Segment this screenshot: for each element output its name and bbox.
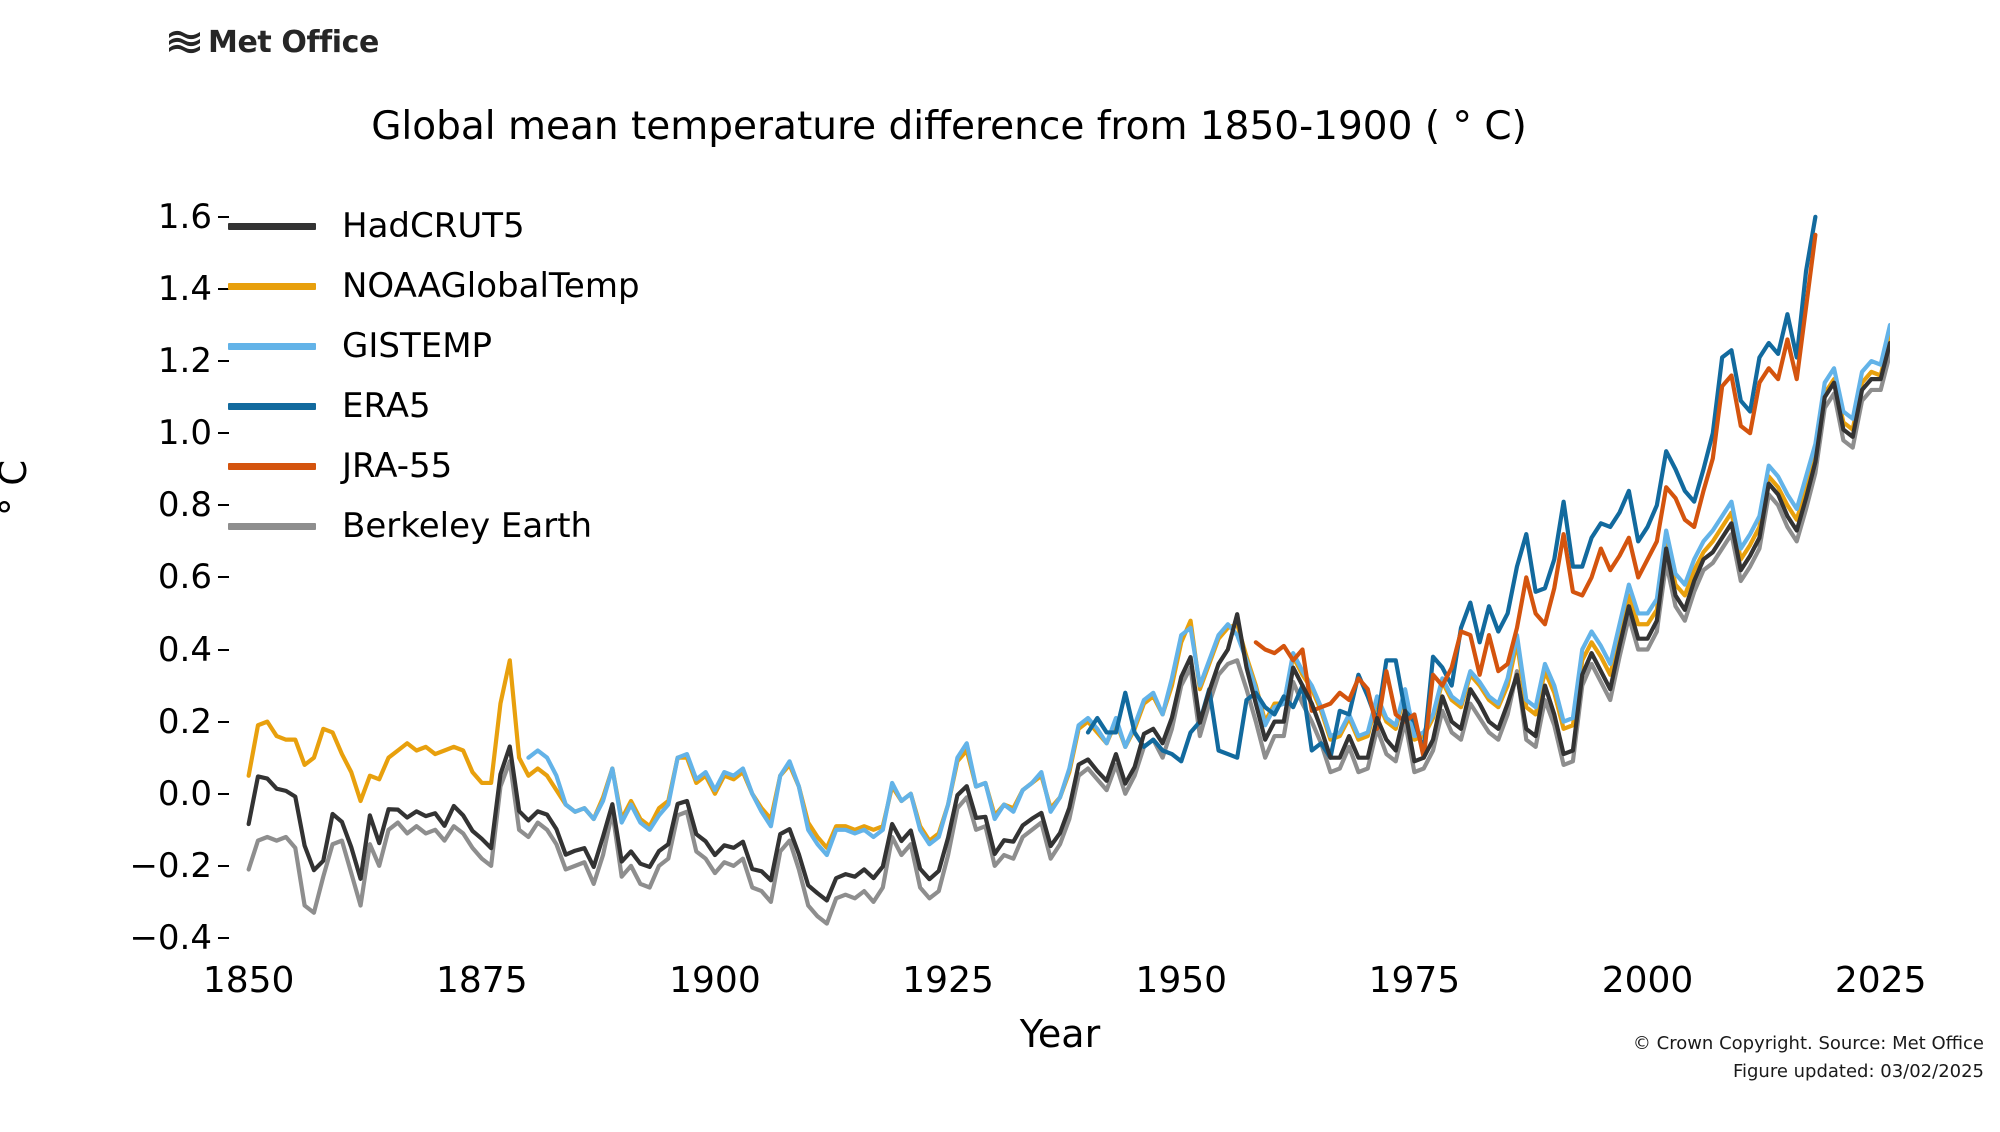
x-tick-label: 1875 [436, 960, 528, 1001]
x-tick-label: 1850 [203, 960, 295, 1001]
y-tick-label: 0.0 [158, 774, 212, 814]
legend-item[interactable]: JRA-55 [228, 436, 708, 496]
legend-color-swatch [228, 523, 316, 530]
x-tick-label: 2025 [1835, 960, 1927, 1001]
legend-item[interactable]: Berkeley Earth [228, 496, 708, 556]
y-axis-ticks: −0.4−0.20.00.20.40.60.81.01.21.41.6 [60, 188, 212, 956]
legend-label: HadCRUT5 [342, 206, 525, 246]
legend-color-swatch [228, 463, 316, 470]
footer-updated: Figure updated: 03/02/2025 [1633, 1058, 1984, 1086]
legend-color-swatch [228, 223, 316, 230]
y-tick-label: 0.2 [158, 702, 212, 742]
series-line-jra-55 [1256, 235, 1816, 758]
y-tick-mark [218, 937, 229, 939]
legend-label: NOAAGlobalTemp [342, 266, 640, 306]
y-tick-label: 1.2 [158, 341, 212, 381]
footer: © Crown Copyright. Source: Met Office Fi… [1633, 1030, 1984, 1086]
legend-label: JRA-55 [342, 446, 452, 486]
legend-item[interactable]: ERA5 [228, 376, 708, 436]
x-tick-label: 1950 [1135, 960, 1227, 1001]
legend-label: Berkeley Earth [342, 506, 592, 546]
legend-label: ERA5 [342, 386, 431, 426]
footer-copyright: © Crown Copyright. Source: Met Office [1633, 1030, 1984, 1058]
y-tick-mark [218, 576, 229, 578]
y-tick-mark [218, 793, 229, 795]
y-tick-mark [218, 649, 229, 651]
series-line-gistemp [528, 228, 1890, 855]
y-tick-mark [218, 721, 229, 723]
y-tick-label: 1.0 [158, 413, 212, 453]
legend-color-swatch [228, 403, 316, 410]
legend-item[interactable]: HadCRUT5 [228, 196, 708, 256]
x-tick-label: 1925 [902, 960, 994, 1001]
x-tick-label: 2000 [1602, 960, 1694, 1001]
y-tick-label: 0.8 [158, 485, 212, 525]
chart-page: Met Office Global mean temperature diffe… [0, 0, 2000, 1132]
y-tick-label: 0.4 [158, 630, 212, 670]
chart-legend: HadCRUT5NOAAGlobalTempGISTEMPERA5JRA-55B… [228, 196, 708, 556]
y-axis-label: ° C [0, 460, 35, 516]
y-tick-label: −0.2 [129, 846, 212, 886]
y-tick-label: −0.4 [129, 918, 212, 958]
met-office-wordmark: Met Office [208, 28, 379, 58]
chart-title: Global mean temperature difference from … [0, 104, 1898, 149]
met-office-waves-icon [168, 28, 202, 58]
x-tick-label: 1975 [1369, 960, 1461, 1001]
legend-item[interactable]: NOAAGlobalTemp [228, 256, 708, 316]
y-tick-label: 1.4 [158, 269, 212, 309]
x-tick-label: 1900 [669, 960, 761, 1001]
met-office-brand: Met Office [168, 28, 379, 58]
legend-color-swatch [228, 343, 316, 350]
y-tick-label: 1.6 [158, 197, 212, 237]
legend-color-swatch [228, 283, 316, 290]
y-tick-mark [218, 865, 229, 867]
y-tick-label: 0.6 [158, 557, 212, 597]
legend-label: GISTEMP [342, 326, 492, 366]
x-axis-ticks: 18501875190019251950197520002025 [230, 960, 1890, 1006]
legend-item[interactable]: GISTEMP [228, 316, 708, 376]
